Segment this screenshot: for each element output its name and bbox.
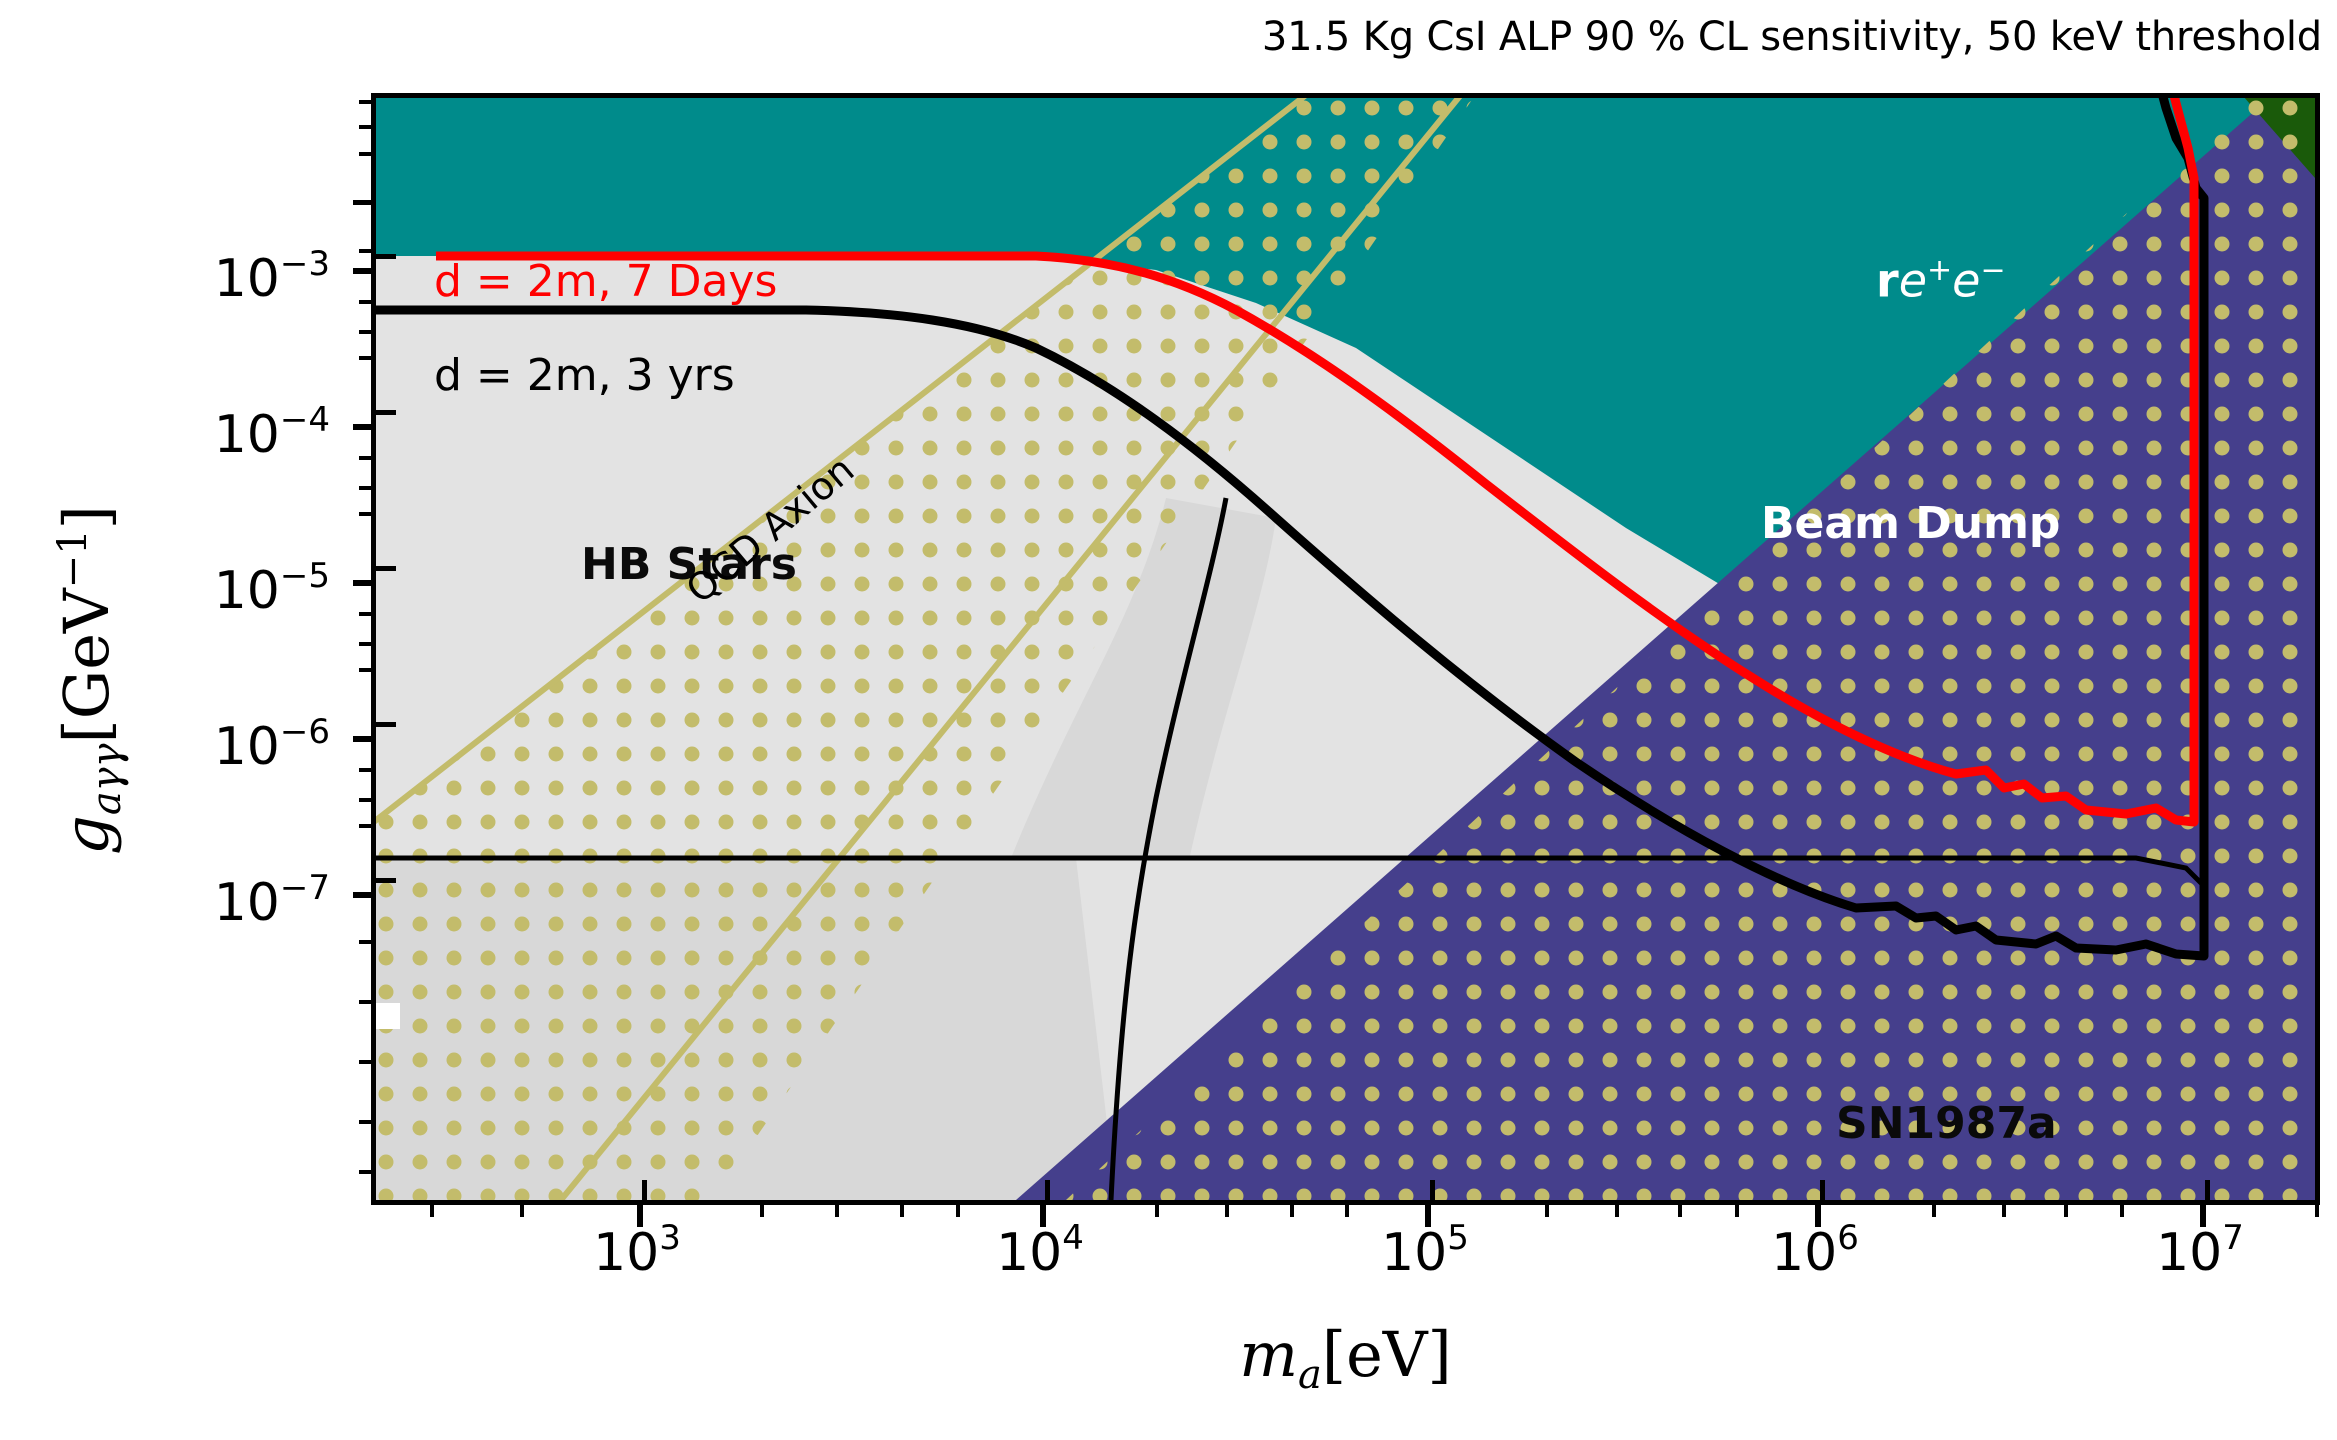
annotation-ee-minus: − [1980,253,2005,288]
x-tick-label-1e5: 105 [1295,1218,1555,1283]
x-tick-major-1e6 [1820,1180,1825,1200]
annotation-beam-dump-label: Beam Dump [1761,498,2060,549]
y-tick-major-1e-3 [376,254,396,259]
x-tick-label-1e6: 106 [1685,1218,1945,1283]
y-axis-label: gaγγ[GeV−1] [50,180,130,1180]
x-tick-label-1e4: 104 [910,1218,1170,1283]
x-axis-label-sub: a [1298,1352,1322,1398]
annotation-7days-label: d = 2m, 7 Days [434,256,777,307]
y-tick-label-1e-7: 10−7 [70,868,330,933]
x-axis-label-base: m [1239,1318,1298,1391]
y-axis-label-base: g [50,815,123,855]
x-tick-major-1e7 [2205,1180,2210,1200]
y-tick-label-1e-3: 10−3 [70,244,330,309]
x-axis-label-unit: [eV] [1322,1318,1452,1391]
y-axis-label-unit-close: ] [50,505,123,529]
plot-area: d = 2m, 7 Days d = 2m, 3 yrs re+e− HB St… [371,93,2320,1205]
white-marker-square [376,1003,400,1029]
plot-clip: d = 2m, 7 Days d = 2m, 3 yrs re+e− HB St… [376,98,2315,1200]
y-tick-major-1e-6 [376,722,396,727]
x-tick-major-1e5 [1430,1180,1435,1200]
y-tick-major-1e-7 [376,878,396,883]
y-tick-major-1e-4 [376,410,396,415]
chart-title: 31.5 Kg CsI ALP 90 % CL sensitivity, 50 … [0,14,2322,60]
y-tick-major-1e-5 [376,566,396,571]
annotation-ee-e1: e [1899,253,1927,307]
y-tick-label-1e-6: 10−6 [70,712,330,777]
x-tick-label-1e7: 107 [2070,1218,2330,1283]
annotation-ee-plus: + [1927,253,1952,288]
y-tick-label-1e-5: 10−5 [70,556,330,621]
annotation-ee-e2: e [1952,253,1980,307]
annotation-sn1987a-label: SN1987a [1836,1098,2057,1149]
annotation-3yrs-label: d = 2m, 3 yrs [434,350,735,401]
x-tick-major-1e4 [1045,1180,1050,1200]
y-tick-label-1e-4: 10−4 [70,400,330,465]
x-tick-major-1e3 [642,1180,647,1200]
chart-root: 31.5 Kg CsI ALP 90 % CL sensitivity, 50 … [0,0,2337,1440]
x-tick-label-1e3: 103 [507,1218,767,1283]
annotation-ee-bold: r [1876,253,1899,307]
x-axis-label: ma[eV] [371,1318,2320,1398]
annotation-ee-label: re+e− [1876,253,2006,307]
